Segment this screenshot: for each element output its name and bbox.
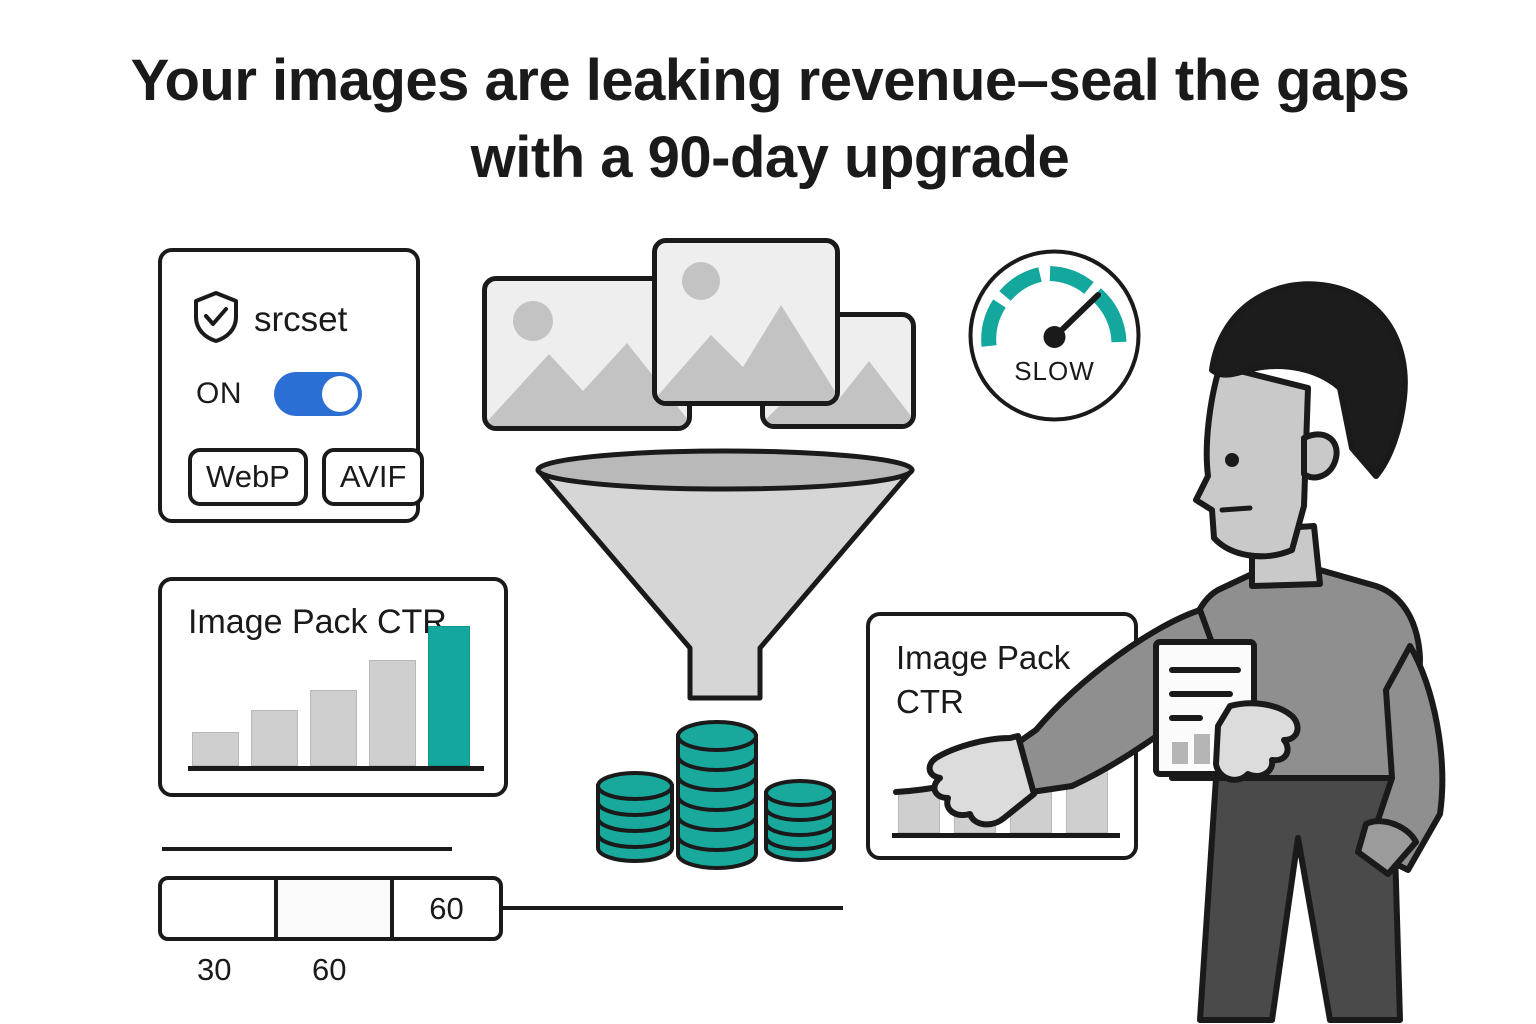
bar-1 bbox=[192, 732, 239, 766]
timeline-segment-2[interactable] bbox=[274, 876, 394, 941]
srcset-label: srcset bbox=[254, 300, 347, 340]
coin-stack-center bbox=[678, 722, 756, 868]
srcset-toggle[interactable] bbox=[274, 372, 362, 416]
timeline-segment-3[interactable]: 60 bbox=[390, 876, 503, 941]
bar-3 bbox=[310, 690, 357, 766]
presenter-figure bbox=[900, 238, 1460, 1024]
ctr-card-left: Image Pack CTR bbox=[158, 577, 508, 797]
infographic-canvas: Your images are leaking revenue–seal the… bbox=[0, 0, 1536, 1024]
coin-stack-right bbox=[766, 781, 834, 860]
timeline-rule bbox=[162, 847, 452, 851]
timeline-connector-line bbox=[503, 906, 843, 910]
figure-pointing-hand bbox=[930, 736, 1034, 824]
figure-mouth bbox=[1222, 508, 1250, 510]
toggle-knob bbox=[322, 376, 358, 412]
page-title: Your images are leaking revenue–seal the… bbox=[120, 42, 1420, 196]
srcset-card: srcset ON WebP AVIF bbox=[158, 248, 420, 523]
image-placeholder-center bbox=[652, 238, 840, 406]
timeline-tick-60: 60 bbox=[312, 952, 346, 988]
timeline-tick-30: 30 bbox=[197, 952, 231, 988]
chart-baseline bbox=[188, 766, 484, 771]
figure-head bbox=[1196, 366, 1308, 556]
srcset-toggle-row[interactable]: ON bbox=[196, 372, 362, 416]
timeline-track[interactable]: 60 bbox=[158, 876, 503, 941]
image-placeholder-icon bbox=[657, 243, 835, 401]
shield-check-icon bbox=[192, 290, 240, 349]
coin-stacks bbox=[590, 718, 850, 878]
bar-5-highlight bbox=[428, 626, 470, 766]
format-chip-webp[interactable]: WebP bbox=[188, 448, 308, 506]
figure-ear bbox=[1304, 434, 1337, 477]
ctr-left-chart bbox=[188, 631, 484, 771]
format-chip-group: WebP AVIF bbox=[188, 448, 424, 506]
timeline-segment-1[interactable] bbox=[158, 876, 278, 941]
figure-eye bbox=[1225, 453, 1239, 467]
toggle-state-label: ON bbox=[196, 377, 242, 411]
format-chip-avif[interactable]: AVIF bbox=[322, 448, 425, 506]
revenue-funnel bbox=[530, 448, 920, 708]
coin-stack-left bbox=[598, 773, 672, 861]
bar-4 bbox=[369, 660, 416, 766]
bar-2 bbox=[251, 710, 298, 766]
figure-trousers bbox=[1200, 748, 1400, 1020]
srcset-header: srcset bbox=[192, 290, 347, 349]
